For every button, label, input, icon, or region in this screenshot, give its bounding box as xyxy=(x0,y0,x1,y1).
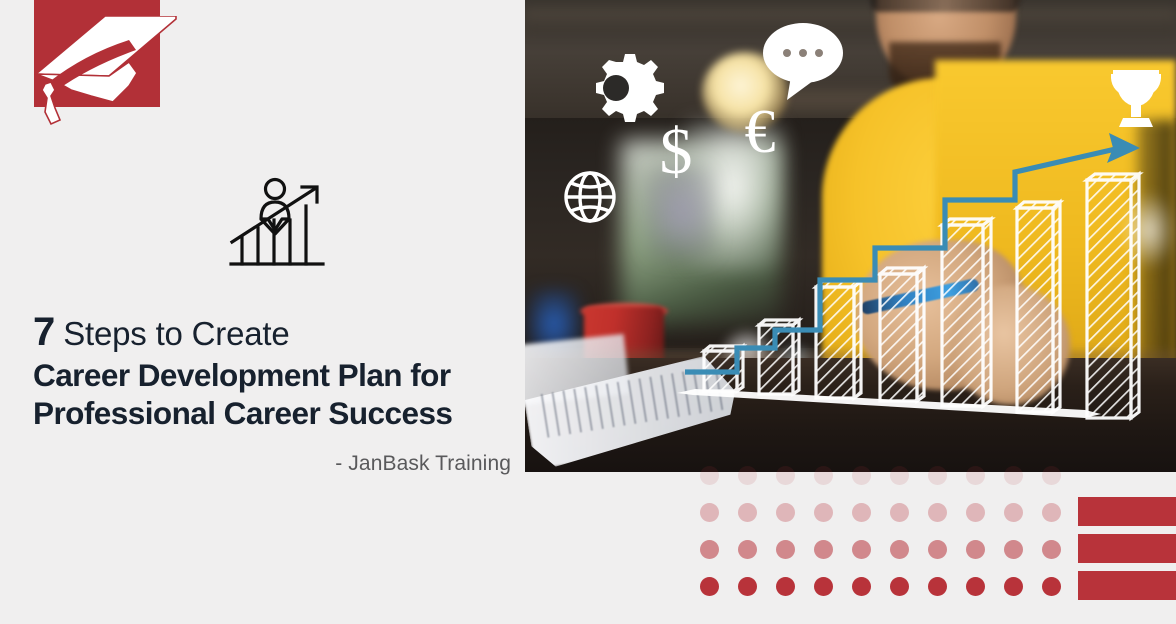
grid-dot xyxy=(966,503,985,522)
grid-dot xyxy=(814,503,833,522)
grid-dot xyxy=(1004,577,1023,596)
red-bar xyxy=(1078,571,1176,600)
grid-dot xyxy=(1004,540,1023,559)
red-bar xyxy=(1078,497,1176,526)
grid-dot xyxy=(776,577,795,596)
headline-line-1: 7 Steps to Create xyxy=(33,310,508,356)
grid-dot xyxy=(776,503,795,522)
grid-dot xyxy=(738,466,757,485)
left-panel: Learn and Grow 7 Steps to Create xyxy=(0,0,525,624)
grid-dot xyxy=(814,540,833,559)
grid-dot xyxy=(852,577,871,596)
grid-dot xyxy=(738,577,757,596)
grid-dot xyxy=(1042,503,1061,522)
headline-line-3: Professional Career Success xyxy=(33,394,508,432)
headline-number: 7 xyxy=(33,310,54,354)
graduation-cap-icon xyxy=(33,16,179,126)
grid-dot xyxy=(928,577,947,596)
grid-dot xyxy=(700,503,719,522)
grid-dot xyxy=(738,503,757,522)
grid-dot xyxy=(1042,466,1061,485)
poster-canvas: Learn and Grow 7 Steps to Create xyxy=(0,0,1176,624)
grid-dot xyxy=(776,540,795,559)
hero-photo: $ € xyxy=(525,0,1176,472)
grid-dot xyxy=(776,466,795,485)
dot-grid-decoration xyxy=(700,466,1066,596)
grid-dot xyxy=(1004,466,1023,485)
grid-dot xyxy=(890,577,909,596)
grid-dot xyxy=(700,466,719,485)
grid-dot xyxy=(890,503,909,522)
grid-dot xyxy=(966,540,985,559)
grid-dot xyxy=(738,540,757,559)
grid-dot xyxy=(1042,577,1061,596)
grid-dot xyxy=(852,466,871,485)
grid-dot xyxy=(890,466,909,485)
logo: Learn and Grow xyxy=(34,0,164,120)
photo-background xyxy=(525,0,1176,472)
grid-dot xyxy=(814,466,833,485)
grid-dot xyxy=(928,540,947,559)
red-bars-decoration xyxy=(1078,497,1176,607)
grid-dot xyxy=(852,540,871,559)
grid-dot xyxy=(1004,503,1023,522)
grid-dot xyxy=(700,577,719,596)
grid-dot xyxy=(928,503,947,522)
grid-dot xyxy=(814,577,833,596)
grid-dot xyxy=(966,466,985,485)
grid-dot xyxy=(1042,540,1061,559)
headline-line-1-rest: Steps to Create xyxy=(54,315,289,352)
red-bar xyxy=(1078,534,1176,563)
career-growth-chart-icon xyxy=(228,176,326,271)
grid-dot xyxy=(852,503,871,522)
page-title: 7 Steps to Create Career Development Pla… xyxy=(33,310,508,432)
attribution: - JanBask Training xyxy=(33,452,511,476)
grid-dot xyxy=(700,540,719,559)
headline-line-2: Career Development Plan for xyxy=(33,356,508,394)
grid-dot xyxy=(966,577,985,596)
grid-dot xyxy=(890,540,909,559)
grid-dot xyxy=(928,466,947,485)
